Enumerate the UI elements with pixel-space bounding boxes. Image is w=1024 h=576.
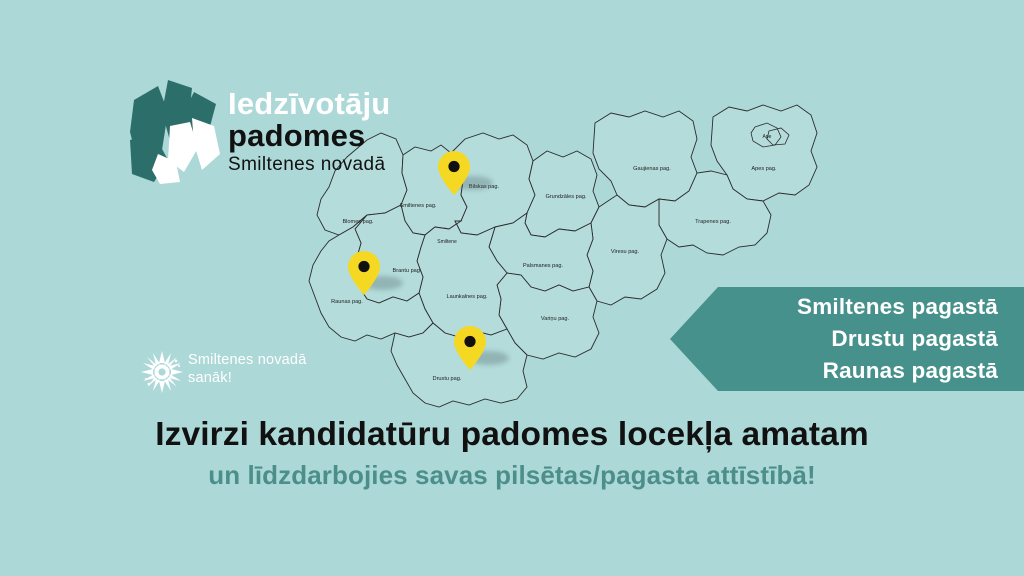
- label-smiltenes: Smiltenes pag.: [399, 203, 436, 209]
- organization-logo: Iedzīvotāju padomes Smiltenes novadā: [128, 78, 418, 190]
- map-pin-icon: [453, 325, 487, 371]
- pin-raunas-pagasts[interactable]: [347, 250, 381, 296]
- label-viresu: Viresu pag.: [611, 249, 640, 255]
- label-raunas: Raunas pag.: [331, 299, 363, 305]
- label-city-smiltene: Smiltene: [437, 239, 457, 245]
- headline-block: Izvirzi kandidatūru padomes locekļa amat…: [0, 415, 1024, 491]
- headline-main: Izvirzi kandidatūru padomes locekļa amat…: [0, 415, 1024, 455]
- badge-line-1: Smiltenes novadā: [188, 351, 306, 369]
- poster-canvas: Blomes pag. Smiltenes pag. Bilskas pag. …: [0, 0, 1024, 576]
- label-grundzales: Grundzāles pag.: [545, 194, 586, 200]
- smiltene-sanak-badge: Smiltenes novadā sanāk!: [140, 348, 320, 396]
- label-trapenes: Trapenes pag.: [695, 219, 731, 225]
- leaf-mark-icon: [128, 78, 228, 186]
- badge-line-2: sanāk!: [188, 369, 306, 387]
- label-city-ape: Ape: [763, 134, 772, 140]
- map-pin-icon: [437, 150, 471, 196]
- headline-sub: un līdzdarbojies savas pilsētas/pagasta …: [0, 459, 1024, 492]
- logo-wordmark: Iedzīvotāju padomes Smiltenes novadā: [228, 88, 418, 177]
- label-palsmanes: Palsmanes pag.: [523, 263, 564, 269]
- label-drustu: Drustu pag.: [433, 376, 462, 382]
- label-launkalnes: Launkalnes pag.: [446, 294, 488, 300]
- pin-drustu-pagasts[interactable]: [453, 325, 487, 371]
- logo-line-2: padomes: [228, 120, 418, 152]
- banner-line-smiltenes: Smiltenes pagastā: [797, 291, 998, 323]
- highlighted-parishes-banner: Smiltenes pagastā Drustu pagastā Raunas …: [670, 287, 1024, 391]
- banner-line-drustu: Drustu pagastā: [831, 323, 998, 355]
- flower-starburst-icon: [140, 350, 184, 394]
- pin-smiltenes-pagasts[interactable]: [437, 150, 471, 196]
- badge-text: Smiltenes novadā sanāk!: [188, 351, 306, 387]
- label-gaujienas: Gaujienas pag.: [633, 166, 671, 172]
- region-gaujienas: [593, 111, 697, 207]
- banner-line-raunas: Raunas pagastā: [823, 355, 998, 387]
- label-brantu: Brantu pag.: [393, 268, 422, 274]
- label-apes: Apes pag.: [751, 166, 777, 172]
- label-varinu: Variņu pag.: [541, 316, 570, 322]
- logo-line-3: Smiltenes novadā: [228, 153, 418, 177]
- label-blomes: Blomes pag.: [342, 219, 374, 225]
- logo-line-1: Iedzīvotāju: [228, 88, 418, 120]
- map-pin-icon: [347, 250, 381, 296]
